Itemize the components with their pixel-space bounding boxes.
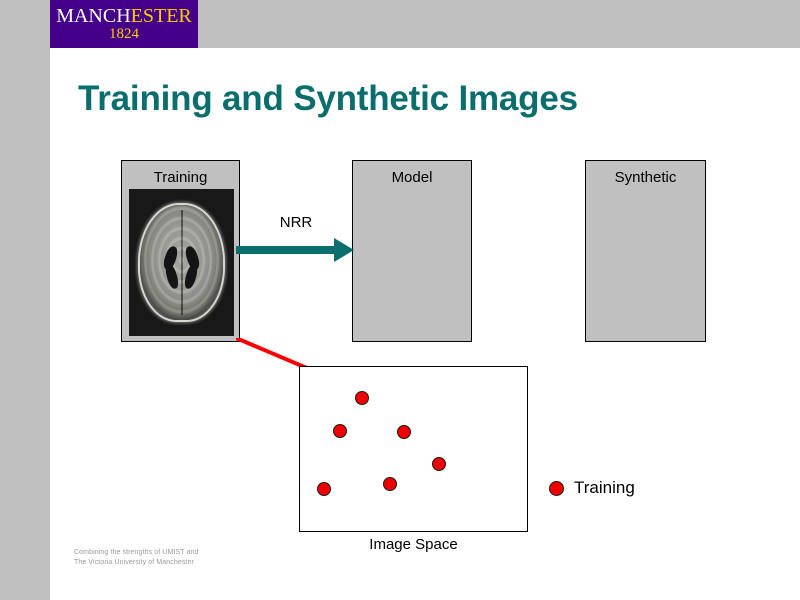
brain-mri-image [129,189,234,336]
logo-wordmark: MANCHESTER [50,6,198,26]
panel-training: Training [121,160,240,342]
brain-gyri-texture [140,205,223,320]
university-logo: MANCHESTER 1824 [50,0,198,48]
image-space-caption: Image Space [299,536,528,553]
image-space-plot [299,366,528,532]
logo-main-text: MANCH [56,5,130,27]
panel-training-label: Training [122,169,239,186]
scatter-point [355,391,369,405]
footer-text: Combining the strengths of UMIST and The… [74,548,198,568]
panel-synthetic-label: Synthetic [586,169,705,186]
scatter-point [397,425,411,439]
panel-model: Model [352,160,472,342]
panel-synthetic: Synthetic [585,160,706,342]
legend-marker-icon [549,481,564,496]
logo-highlight-text: ESTER [131,5,192,27]
logo-year: 1824 [50,26,198,42]
footer-line1: Combining the strengths of UMIST and [74,548,198,558]
legend: Training [549,478,635,498]
sidebar-bar [0,0,50,600]
brain-outline [140,205,223,320]
nrr-label: NRR [240,214,352,231]
scatter-point [383,477,397,491]
footer-line2: The Victoria University of Manchester [74,558,198,568]
panel-model-label: Model [353,169,471,186]
page-title: Training and Synthetic Images [78,79,578,119]
scatter-point [432,457,446,471]
legend-label: Training [574,478,635,498]
scatter-point [333,424,347,438]
nrr-arrow-icon [236,236,356,264]
slide-canvas: MANCHESTER 1824 The University of Manche… [0,0,800,600]
scatter-point [317,482,331,496]
